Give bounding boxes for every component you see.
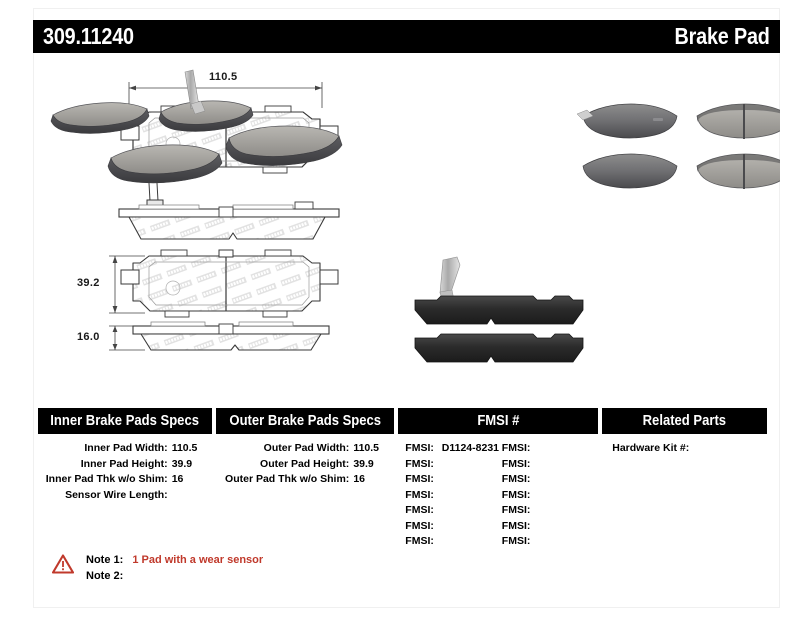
note-row: Note 1: 1 Pad with a wear sensor [86, 552, 263, 568]
related-part-row: Hardware Kit #: [602, 441, 767, 457]
spec-label: Sensor Wire Length: [38, 488, 172, 504]
fmsi-row: FMSI: [405, 503, 502, 519]
fmsi-label: FMSI: [405, 458, 434, 470]
spec-label: Inner Pad Thk w/o Shim: [38, 472, 172, 488]
spec-label: Outer Pad Height: [216, 457, 354, 473]
column-header-fmsi: FMSI # [398, 408, 598, 434]
dimension-label-thickness: 16.0 [77, 331, 100, 343]
note-label: Note 1: [86, 554, 123, 566]
fmsi-value [530, 458, 535, 470]
fmsi-label: FMSI: [405, 489, 434, 501]
drawing-side-profile-with-sensor [119, 174, 339, 239]
fmsi-row: FMSI: [405, 457, 502, 473]
spec-value: 39.9 [172, 457, 212, 473]
fmsi-value [530, 535, 535, 547]
fmsi-value [530, 520, 535, 532]
fmsi-value [434, 473, 439, 485]
column-header-outer-specs: Outer Brake Pads Specs [216, 408, 394, 434]
fmsi-label: FMSI: [405, 520, 434, 532]
fmsi-column: FMSI: D1124-8231 FMSI: FMSI: FMSI: [397, 441, 598, 550]
spec-row: Outer Pad Height: 39.9 [216, 457, 394, 473]
fmsi-row: FMSI: [405, 519, 502, 535]
fmsi-label: FMSI: [502, 458, 531, 470]
related-parts-column: Hardware Kit #: [602, 441, 767, 550]
fmsi-row: FMSI: [502, 503, 599, 519]
spec-label: Inner Pad Height: [38, 457, 172, 473]
related-part-label: Hardware Kit #: [612, 442, 689, 454]
fmsi-row: FMSI: [502, 519, 599, 535]
fmsi-row: FMSI: [502, 488, 599, 504]
spec-value: 16 [172, 472, 212, 488]
fmsi-label: FMSI: [502, 473, 531, 485]
spec-label: Outer Pad Width: [216, 441, 354, 457]
spec-value: 39.9 [353, 457, 393, 473]
fmsi-sub-column-right: FMSI: FMSI: FMSI: FMSI: [502, 441, 599, 550]
drawing-edge-view-thickness [109, 322, 329, 350]
table-body: Inner Pad Width: 110.5 Inner Pad Height:… [38, 434, 767, 550]
fmsi-value [530, 473, 535, 485]
spec-row: Outer Pad Thk w/o Shim: 16 [216, 472, 394, 488]
note-label: Note 2: [86, 570, 123, 582]
fmsi-value [434, 504, 439, 516]
fmsi-value [434, 489, 439, 501]
table-header-row: Inner Brake Pads Specs Outer Brake Pads … [38, 408, 767, 434]
photo-pads-edge-on [415, 257, 583, 362]
fmsi-sub-column-left: FMSI: D1124-8231 FMSI: FMSI: FMSI: [405, 441, 502, 550]
fmsi-value [434, 458, 439, 470]
fmsi-value [530, 504, 535, 516]
fmsi-label: FMSI: [405, 504, 434, 516]
dimension-label-height: 39.2 [77, 277, 100, 289]
inner-specs-column: Inner Pad Width: 110.5 Inner Pad Height:… [38, 441, 212, 550]
spec-label: Outer Pad Thk w/o Shim: [216, 472, 354, 488]
fmsi-value [530, 442, 535, 454]
notes-section: Note 1: 1 Pad with a wear sensor Note 2: [52, 552, 263, 584]
fmsi-label: FMSI: [502, 535, 531, 547]
note-value [123, 570, 129, 582]
fmsi-label: FMSI: [502, 520, 531, 532]
product-type-title: Brake Pad [675, 25, 770, 48]
fmsi-row: FMSI: D1124-8231 [405, 441, 502, 457]
fmsi-label: FMSI: [502, 489, 531, 501]
fmsi-value [530, 489, 535, 501]
fmsi-row: FMSI: [502, 534, 599, 550]
notes-list: Note 1: 1 Pad with a wear sensor Note 2: [86, 552, 263, 584]
outer-specs-column: Outer Pad Width: 110.5 Outer Pad Height:… [216, 441, 394, 550]
column-header-related-parts: Related Parts [602, 408, 767, 434]
drawing-front-view-height [109, 250, 338, 317]
fmsi-label: FMSI: [405, 535, 434, 547]
specs-table: Inner Brake Pads Specs Outer Brake Pads … [38, 408, 767, 550]
fmsi-label: FMSI: [502, 504, 531, 516]
fmsi-label: FMSI: [502, 442, 531, 454]
fmsi-row: FMSI: [405, 534, 502, 550]
fmsi-row: FMSI: [502, 472, 599, 488]
fmsi-value [434, 520, 439, 532]
photo-pad-set-grid [577, 104, 780, 189]
spec-value: 110.5 [353, 441, 393, 457]
fmsi-label: FMSI: [405, 442, 434, 454]
fmsi-label: FMSI: [405, 473, 434, 485]
dimension-label-width: 110.5 [209, 71, 237, 83]
spec-label: Inner Pad Width: [38, 441, 172, 457]
spec-value: 110.5 [172, 441, 212, 457]
note-value: 1 Pad with a wear sensor [126, 554, 263, 566]
column-header-inner-specs: Inner Brake Pads Specs [38, 408, 212, 434]
spec-row: Inner Pad Thk w/o Shim: 16 [38, 472, 212, 488]
illustrations-svg [33, 60, 780, 390]
note-row: Note 2: [86, 568, 263, 584]
spec-value [172, 488, 212, 504]
spec-row: Inner Pad Height: 39.9 [38, 457, 212, 473]
fmsi-row: FMSI: [405, 488, 502, 504]
fmsi-row: FMSI: [405, 472, 502, 488]
product-illustration-area: 110.5 39.2 16.0 [33, 60, 780, 390]
header-bar: 309.11240 Brake Pad [33, 20, 780, 53]
fmsi-value: D1124-8231 [437, 442, 499, 454]
spec-row: Inner Pad Width: 110.5 [38, 441, 212, 457]
warning-triangle-icon [52, 554, 74, 574]
part-number: 309.11240 [43, 25, 134, 48]
spec-row: Sensor Wire Length: [38, 488, 212, 504]
fmsi-value [434, 535, 439, 547]
fmsi-row: FMSI: [502, 441, 599, 457]
spec-value: 16 [353, 472, 393, 488]
spec-row: Outer Pad Width: 110.5 [216, 441, 394, 457]
fmsi-row: FMSI: [502, 457, 599, 473]
